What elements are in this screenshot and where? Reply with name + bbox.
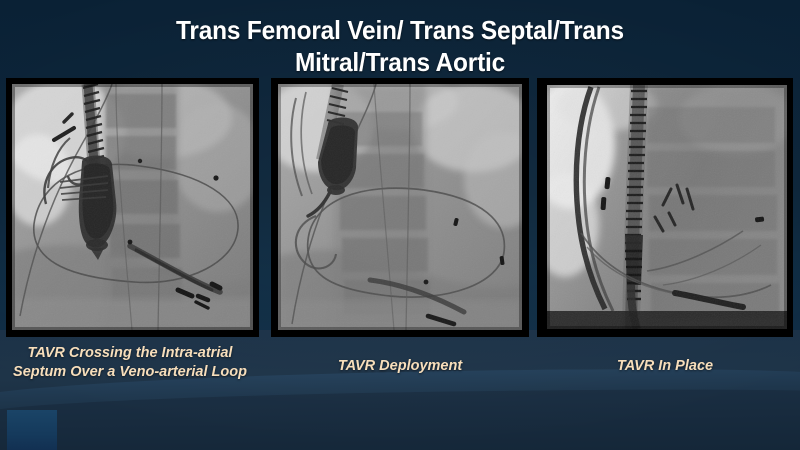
slide-title: Trans Femoral Vein/ Trans Septal/Trans M… — [24, 14, 776, 78]
fluoroscopy-image-3 — [547, 85, 787, 329]
fluoro-content-1 — [12, 84, 253, 330]
fluoroscopy-image-1 — [12, 84, 253, 330]
fluoroscopy-panel-3[interactable] — [538, 79, 792, 336]
fluoro-content-2 — [278, 84, 522, 330]
accent-block-bottom-left — [7, 410, 57, 450]
fluoroscopy-image-2 — [278, 84, 522, 330]
fluoroscopy-panel-1[interactable] — [7, 79, 258, 336]
presentation-slide: Trans Femoral Vein/ Trans Septal/Trans M… — [0, 0, 800, 450]
fluoro-content-3 — [547, 85, 787, 329]
panel-caption-1: TAVR Crossing the Intra-atrial Septum Ov… — [6, 344, 254, 382]
panel-caption-2: TAVR Deployment — [272, 357, 528, 376]
fluoroscopy-panel-2[interactable] — [272, 79, 528, 336]
panel-caption-3: TAVR In Place — [538, 357, 792, 376]
